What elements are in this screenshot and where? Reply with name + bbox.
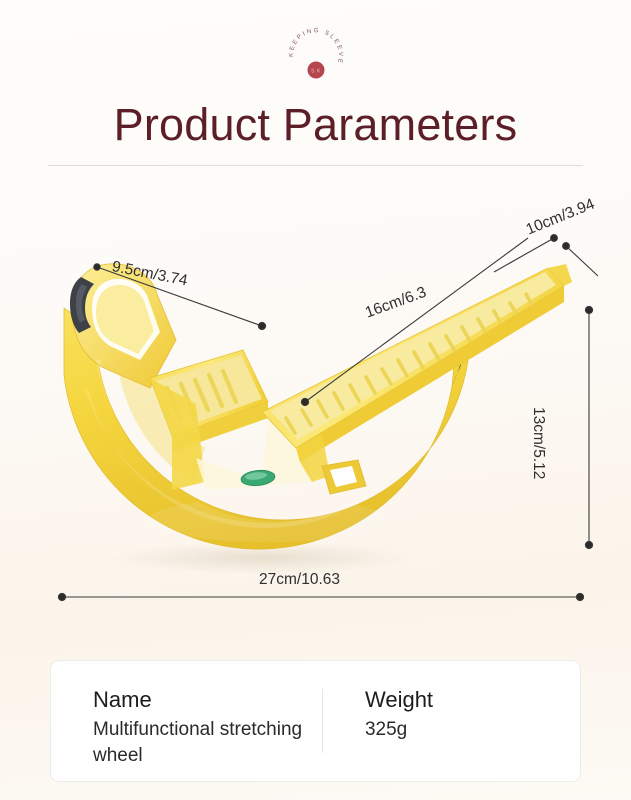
product-image <box>0 190 631 620</box>
brand-seal-icon: KEEPING SLEEVE S K <box>286 22 346 80</box>
spec-table: Name Multifunctional stretching wheel We… <box>50 660 581 782</box>
spec-cell-weight: Weight 325g <box>323 661 580 743</box>
dimension-label-overall-height: 13cm/5.12 <box>529 407 547 479</box>
svg-text:KEEPING SLEEVE: KEEPING SLEEVE <box>288 27 344 65</box>
spec-value-name: Multifunctional stretching wheel <box>93 717 303 769</box>
dimension-label-overall-length: 27cm/10.63 <box>259 571 340 589</box>
title-divider <box>48 165 583 166</box>
spec-cell-name: Name Multifunctional stretching wheel <box>51 661 322 769</box>
spec-label-weight: Weight <box>365 685 580 715</box>
spec-label-name: Name <box>93 685 322 715</box>
spec-value-weight: 325g <box>365 717 575 743</box>
product-parameters-page: KEEPING SLEEVE S K Product Parameters <box>0 0 631 800</box>
page-title: Product Parameters <box>0 96 631 154</box>
svg-text:S K: S K <box>311 69 321 75</box>
